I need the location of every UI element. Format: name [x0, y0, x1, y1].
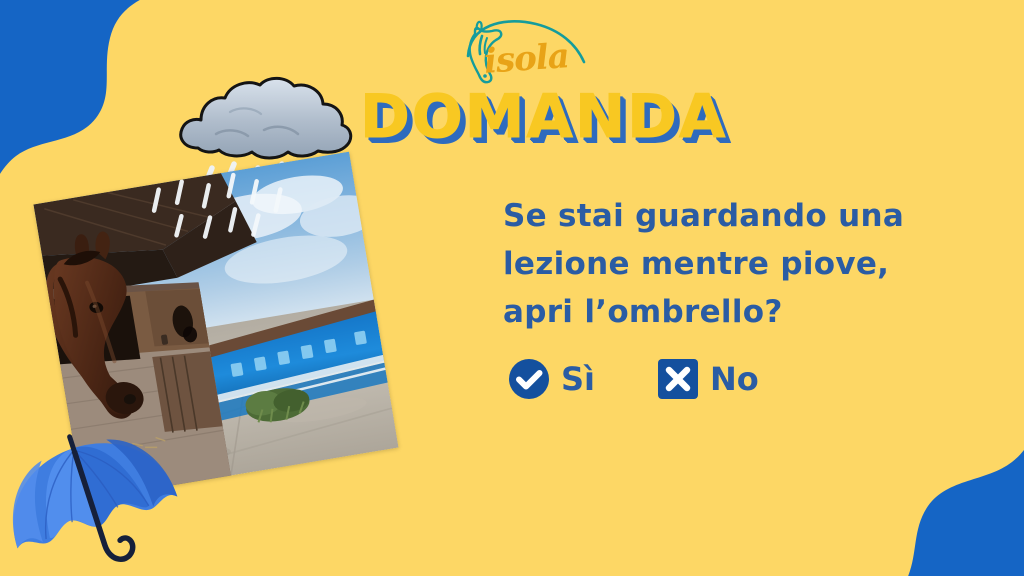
question-text: Se stai guardando una lezione mentre pio…	[503, 192, 933, 336]
question-line-3: apri l’ombrello?	[503, 288, 933, 336]
umbrella-icon	[0, 430, 196, 576]
slide-canvas: isola DOMANDA	[0, 0, 1024, 576]
question-line-1: Se stai guardando una	[503, 192, 933, 240]
answer-options: Sì No	[508, 358, 759, 400]
answer-option-si[interactable]: Sì	[508, 358, 595, 400]
question-line-2: lezione mentre piove,	[503, 240, 933, 288]
blue-blob-bottom-right	[774, 326, 1024, 576]
answer-option-no[interactable]: No	[657, 358, 759, 400]
answer-label-no: No	[710, 363, 759, 395]
lisola-logo: isola	[444, 14, 594, 88]
page-title: DOMANDA	[360, 82, 727, 152]
check-circle-icon[interactable]	[508, 358, 550, 400]
answer-label-si: Sì	[561, 363, 595, 395]
logo-wordmark: isola	[482, 26, 598, 90]
close-square-icon[interactable]	[657, 358, 699, 400]
